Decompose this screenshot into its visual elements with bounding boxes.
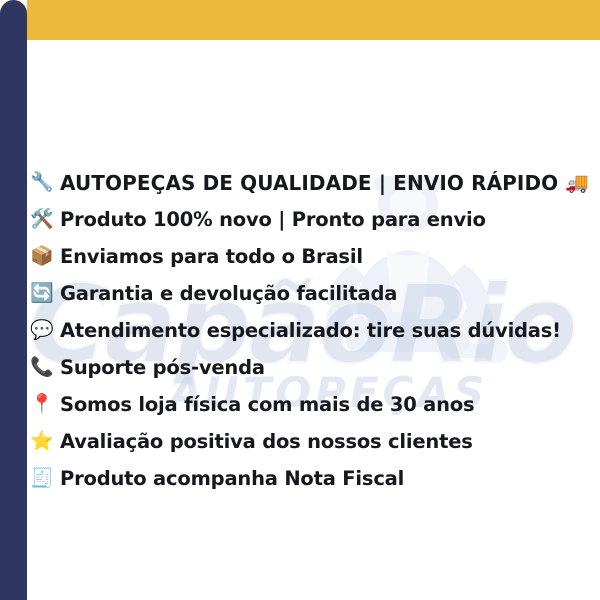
feature-text: Produto 100% novo | Pronto para envio [60, 208, 486, 231]
feature-text: AUTOPEÇAS DE QUALIDADE | ENVIO RÁPIDO [60, 171, 558, 195]
hammer-and-wrench-icon: 🛠️ [30, 210, 60, 229]
feature-row: 🔧AUTOPEÇAS DE QUALIDADE | ENVIO RÁPIDO🚚 [30, 164, 590, 201]
receipt-icon: 🧾 [30, 469, 60, 488]
feature-row: 🔄Garantia e devolução facilitada [30, 275, 590, 312]
feature-row: 📦Enviamos para todo o Brasil [30, 238, 590, 275]
feature-row: 💬Atendimento especializado: tire suas dú… [30, 312, 590, 349]
feature-row: 📍Somos loja física com mais de 30 anos [30, 386, 590, 423]
wrench-icon: 🔧 [30, 173, 60, 192]
promo-banner: CapãoRio AUTOPEÇAS 🔧AUTOPEÇAS DE QUALIDA… [0, 0, 600, 600]
feature-row: 📞Suporte pós-venda [30, 349, 590, 386]
feature-text: Garantia e devolução facilitada [60, 282, 397, 305]
telephone-receiver-icon: 📞 [30, 358, 60, 377]
feature-text: Suporte pós-venda [60, 356, 265, 379]
top-accent-bar [27, 0, 600, 40]
feature-text: Enviamos para todo o Brasil [60, 245, 363, 268]
refresh-arrows-icon: 🔄 [30, 284, 60, 303]
feature-row: ⭐Avaliação positiva dos nossos clientes [30, 423, 590, 460]
left-accent-stripe [0, 0, 27, 600]
package-icon: 📦 [30, 247, 60, 266]
feature-row: 🛠️Produto 100% novo | Pronto para envio [30, 201, 590, 238]
feature-list: 🔧AUTOPEÇAS DE QUALIDADE | ENVIO RÁPIDO🚚🛠… [30, 164, 590, 497]
feature-text: Avaliação positiva dos nossos clientes [60, 430, 473, 453]
delivery-truck-icon: 🚚 [565, 171, 589, 194]
feature-text: Somos loja física com mais de 30 anos [60, 393, 474, 416]
feature-row: 🧾Produto acompanha Nota Fiscal [30, 460, 590, 497]
star-icon: ⭐ [30, 432, 60, 451]
feature-text: Produto acompanha Nota Fiscal [60, 467, 404, 490]
map-pin-icon: 📍 [30, 395, 60, 414]
feature-text: Atendimento especializado: tire suas dúv… [60, 319, 561, 342]
speech-balloon-icon: 💬 [30, 321, 60, 340]
